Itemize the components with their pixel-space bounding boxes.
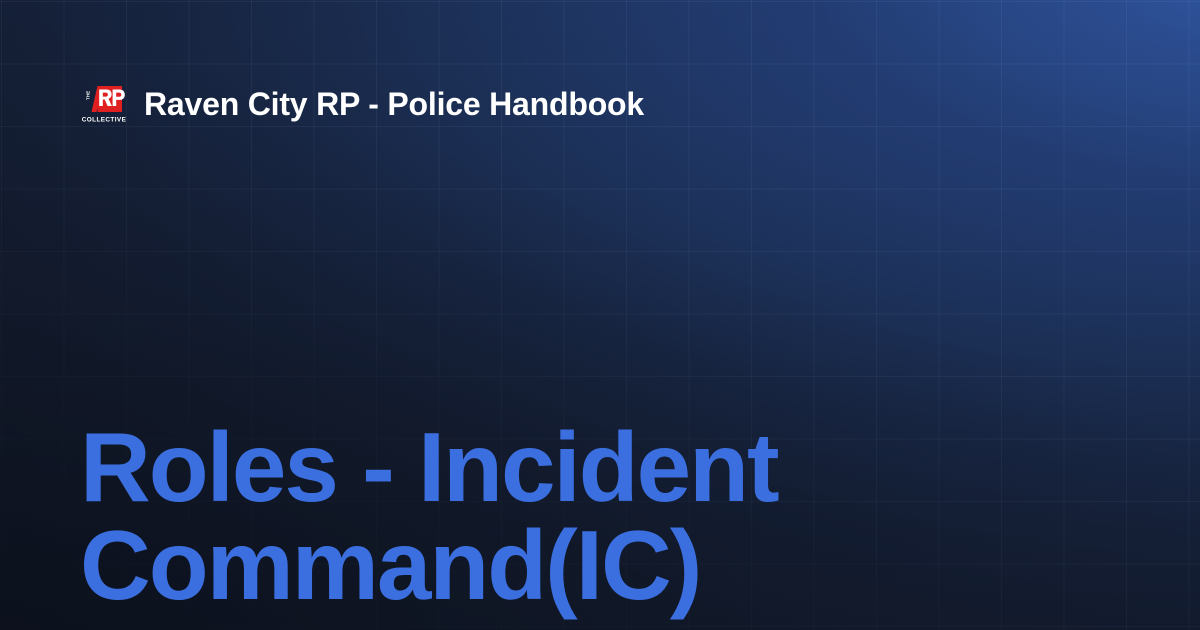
page-title: Roles - Incident Command(IC) [80,418,840,614]
svg-text:THE: THE [85,91,90,100]
svg-text:COLLECTIVE: COLLECTIVE [82,117,127,124]
brand-header: THE COLLECTIVE Raven City RP - Police Ha… [80,80,644,128]
site-title: Raven City RP - Police Handbook [144,88,644,120]
rp-collective-logo-icon: THE COLLECTIVE [80,80,128,128]
card-content: THE COLLECTIVE Raven City RP - Police Ha… [0,0,1200,630]
og-card: THE COLLECTIVE Raven City RP - Police Ha… [0,0,1200,630]
